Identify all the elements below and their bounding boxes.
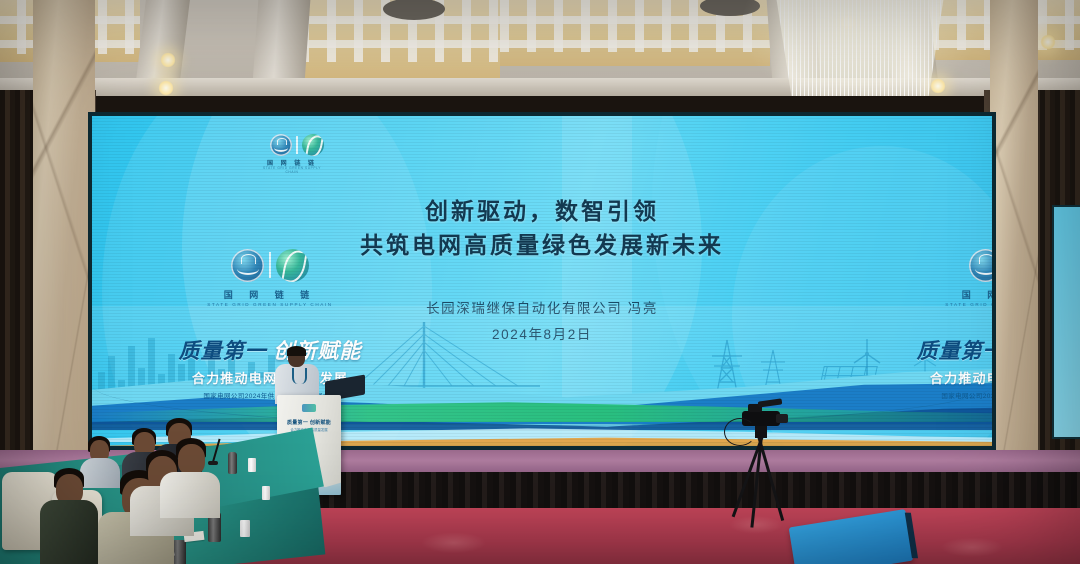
microphone-base xyxy=(208,461,218,465)
logo-divider xyxy=(269,252,271,278)
banner-left: 国 网 链 链 STATE GRID GREEN SUPPLY CHAIN 质量… xyxy=(166,244,374,390)
state-grid-emblem-icon xyxy=(231,249,264,282)
green-supply-chain-globe-icon xyxy=(302,134,324,156)
logo-divider xyxy=(296,136,298,154)
speaker-hair xyxy=(287,346,306,356)
banner-left-headline-dark: 质量第一 xyxy=(179,340,267,363)
state-grid-podium-logo-icon xyxy=(302,404,316,412)
camera-cable xyxy=(724,418,756,446)
downlight-icon xyxy=(158,80,174,96)
title-line-1: 创新驱动，数智引领 xyxy=(92,194,992,228)
state-grid-emblem-icon xyxy=(969,249,992,282)
crystal-chandelier xyxy=(760,0,960,96)
led-screen: 国 网 链 链 STATE GRID GREEN SUPPLY CHAIN 创新… xyxy=(92,116,992,446)
banner-left-logo-pair xyxy=(166,244,374,286)
camera-lens-icon xyxy=(776,414,788,423)
green-supply-chain-globe-icon xyxy=(276,249,309,282)
banner-right: 国 网 链 链 STATE GRID GREEN SUPPLY CHAIN 质量… xyxy=(904,244,992,390)
water-cup xyxy=(248,458,256,472)
led-screen-frame: 国 网 链 链 STATE GRID GREEN SUPPLY CHAIN 创新… xyxy=(88,112,996,450)
banner-right-footnote: 国家电网公司2024年供应商高质量发展大会 xyxy=(904,390,992,400)
banner-left-logo-caption: 国 网 链 链 xyxy=(166,288,374,301)
water-cup xyxy=(262,486,270,500)
downlight-icon xyxy=(1040,34,1056,50)
downlight-icon xyxy=(160,52,176,68)
conference-hall-photo: 国 网 链 链 STATE GRID GREEN SUPPLY CHAIN 创新… xyxy=(0,0,1080,564)
podium-line-1: 质量第一 创新赋能 xyxy=(277,419,341,426)
banner-right-subhead: 合力推动电网高质量发展 xyxy=(904,368,992,387)
secondary-led-panel xyxy=(1052,205,1080,439)
state-grid-emblem-icon xyxy=(270,134,292,156)
banner-right-headline: 质量第一 创新赋能 xyxy=(904,335,992,365)
right-marble-pillar xyxy=(990,0,1038,474)
water-cup xyxy=(240,520,250,537)
banner-right-logo-caption: 国 网 链 链 xyxy=(904,288,992,301)
banner-left-logo-caption-en: STATE GRID GREEN SUPPLY CHAIN xyxy=(166,302,374,307)
left-marble-pillar xyxy=(33,0,95,474)
vacuum-flask xyxy=(228,452,237,474)
banner-left-headline: 质量第一 创新赋能 xyxy=(166,335,374,365)
tripod-head xyxy=(755,426,767,438)
banner-right-headline-dark: 质量第一 xyxy=(917,340,992,363)
banner-right-logo-caption-en: STATE GRID GREEN SUPPLY CHAIN xyxy=(904,302,992,307)
ceiling xyxy=(0,0,1080,96)
screen-logo-caption-en: STATE GRID GREEN SUPPLY CHAIN xyxy=(256,166,328,174)
screen-logo-pair xyxy=(270,134,324,156)
banner-right-logo-pair xyxy=(904,244,992,286)
speaker-badge-lanyard xyxy=(292,368,307,384)
